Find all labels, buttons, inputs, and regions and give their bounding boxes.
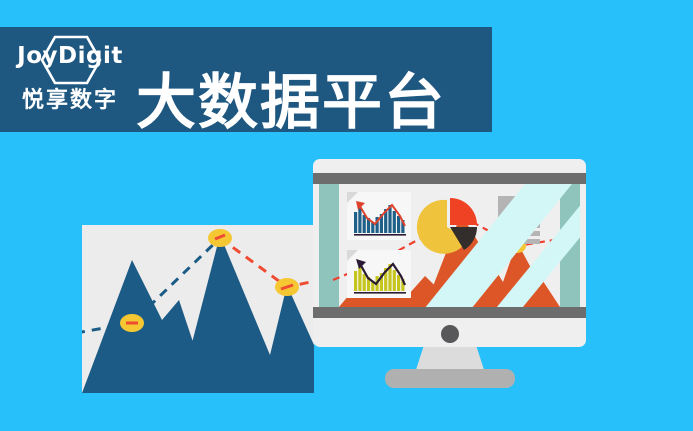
screen-left-accent [319, 184, 339, 307]
doc-line [498, 239, 540, 244]
doc-line [498, 223, 540, 228]
brand-logo: JoyDigit 悦享数字 [14, 33, 126, 125]
monitor-frame [313, 159, 586, 347]
exploded-pie-chart [418, 196, 480, 258]
screen-right-accent [560, 184, 580, 307]
logo-chinese-name: 悦享数字 [14, 89, 126, 111]
logo-wordmark: JoyDigit [14, 45, 126, 68]
axis-line [354, 292, 406, 294]
document-placeholder-block [498, 196, 540, 242]
doc-line [498, 231, 540, 236]
yellow-bar-chart [354, 257, 406, 295]
monitor-bottom-bar [313, 307, 586, 318]
page-title: 大数据平台 [136, 73, 446, 133]
pie-slice-red [450, 198, 477, 225]
monitor-screen [319, 184, 580, 307]
doc-header-block [498, 196, 540, 219]
monitor-base [385, 369, 515, 388]
poster-canvas: JoyDigit 悦享数字 大数据平台 [0, 0, 693, 431]
monitor-top-bar [313, 173, 586, 184]
yellow-bar-chart-card [347, 250, 411, 298]
blue-bar-chart [354, 199, 406, 237]
power-indicator-icon [441, 325, 459, 343]
header-banner: JoyDigit 悦享数字 大数据平台 [0, 27, 492, 132]
left-mountain-panel [82, 225, 314, 393]
axis-line [354, 234, 406, 236]
blue-bar-chart-card [347, 192, 411, 240]
left-panel-mountain-chart [82, 225, 314, 393]
